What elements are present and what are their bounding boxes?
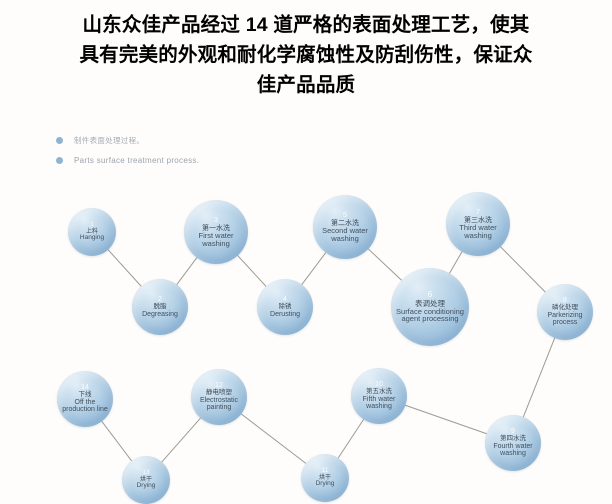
flow-edge [449, 250, 463, 275]
flow-node-number: 4 [283, 296, 287, 303]
flow-node-13[interactable]: 13烘干Drying [122, 456, 170, 504]
flow-node-4[interactable]: 4除锈Derusting [257, 279, 313, 335]
flow-edge [523, 336, 556, 419]
flow-edge [337, 418, 365, 460]
flow-node-number: 3 [214, 216, 218, 224]
flow-edge [367, 248, 403, 282]
flow-node-number: 8 [563, 297, 567, 304]
flow-node-label-en: First water washing [184, 232, 248, 248]
flow-node-number: 14 [81, 384, 89, 391]
flow-node-label-cn: 脱脂 [154, 304, 167, 311]
flow-edge [240, 413, 308, 465]
flow-node-label-en: Drying [314, 481, 337, 488]
flow-node-label-en: Fifth water washing [351, 396, 407, 411]
page-title: 山东众佳产品经过 14 道严格的表面处理工艺，使其 具有完美的外观和耐化学腐蚀性… [0, 0, 612, 100]
flow-node-5[interactable]: 5第二水洗Second water washing [313, 195, 377, 259]
flow-node-label-en: Surface conditioning agent processing [391, 308, 469, 324]
legend-item-label: 制件表面处理过程。 [74, 135, 144, 146]
flow-node-3[interactable]: 3第一水洗First water washing [184, 200, 248, 264]
legend-item-en: Parts surface treatment process. [56, 152, 199, 168]
flow-node-label-cn: 第四水洗 [500, 436, 526, 443]
flow-node-number: 12 [215, 382, 223, 389]
flow-node-number: 1 [90, 222, 94, 229]
flow-node-number: 6 [428, 291, 432, 299]
flow-node-14[interactable]: 14下线Off the production line [57, 371, 113, 427]
flow-node-label-en: Parkerizing process [537, 312, 593, 327]
flow-node-2[interactable]: 2脱脂Degreasing [132, 279, 188, 335]
flow-node-label-en: Derusting [268, 311, 302, 318]
flow-node-number: 2 [158, 296, 162, 303]
flow-node-number: 9 [511, 428, 515, 435]
flow-node-12[interactable]: 12静电喷塑Electrostatic painting [191, 369, 247, 425]
flow-edge [161, 417, 202, 464]
page-title-line-3: 佳产品品质 [22, 70, 590, 100]
page-title-line-1: 山东众佳产品经过 14 道严格的表面处理工艺，使其 [22, 10, 590, 40]
flow-edge [107, 248, 143, 287]
flow-node-number: 5 [343, 211, 347, 219]
flow-node-label-en: Second water washing [313, 227, 377, 243]
flow-node-8[interactable]: 8磷化处理Parkerizing process [537, 284, 593, 340]
flow-node-label-cn: 磷化处理 [552, 305, 578, 312]
flow-edge [176, 256, 198, 286]
flow-node-9[interactable]: 9第四水洗Fourth water washing [485, 415, 541, 471]
flow-node-11[interactable]: 11烘干Drying [301, 454, 349, 502]
flow-node-label-en: Degreasing [140, 311, 180, 318]
flow-edge [236, 254, 267, 288]
flow-node-10[interactable]: 10第五水洗Fifth water washing [351, 368, 407, 424]
flow-edge [301, 251, 327, 286]
legend-item-cn: 制件表面处理过程。 [56, 132, 199, 148]
legend-bullet-icon [56, 157, 63, 164]
flow-node-6[interactable]: 6表调处理Surface conditioning agent processi… [391, 268, 469, 346]
flow-node-1[interactable]: 1上料Hanging [68, 208, 116, 256]
flow-node-label-cn: 静电喷塑 [206, 390, 232, 397]
flow-node-number: 13 [142, 470, 149, 477]
flow-node-label-cn: 下线 [79, 392, 92, 399]
process-flow-diagram: 制件表面处理过程。 Parts surface treatment proces… [0, 122, 612, 500]
legend: 制件表面处理过程。 Parts surface treatment proces… [56, 132, 199, 172]
legend-bullet-icon [56, 137, 63, 144]
flow-node-label-en: Third water washing [446, 224, 510, 240]
flow-node-label-en: Electrostatic painting [191, 397, 247, 412]
flow-node-label-cn: 第五水洗 [366, 389, 392, 396]
flow-node-label-en: Fourth water washing [485, 443, 541, 458]
flow-node-number: 7 [476, 208, 480, 216]
flow-edge [404, 405, 489, 435]
flow-node-label-cn: 除锈 [279, 304, 292, 311]
page-title-line-2: 具有完美的外观和耐化学腐蚀性及防刮伤性，保证众 [22, 40, 590, 70]
flow-node-label-en: Drying [135, 483, 158, 490]
flow-edge [499, 245, 547, 293]
flow-node-number: 10 [375, 381, 383, 388]
flow-node-7[interactable]: 7第三水洗Third water washing [446, 192, 510, 256]
flow-node-number: 11 [322, 468, 329, 475]
legend-item-label: Parts surface treatment process. [74, 156, 199, 165]
flow-node-label-en: Hanging [78, 235, 106, 242]
flow-node-label-en: Off the production line [57, 399, 113, 414]
flow-edge [101, 420, 133, 463]
